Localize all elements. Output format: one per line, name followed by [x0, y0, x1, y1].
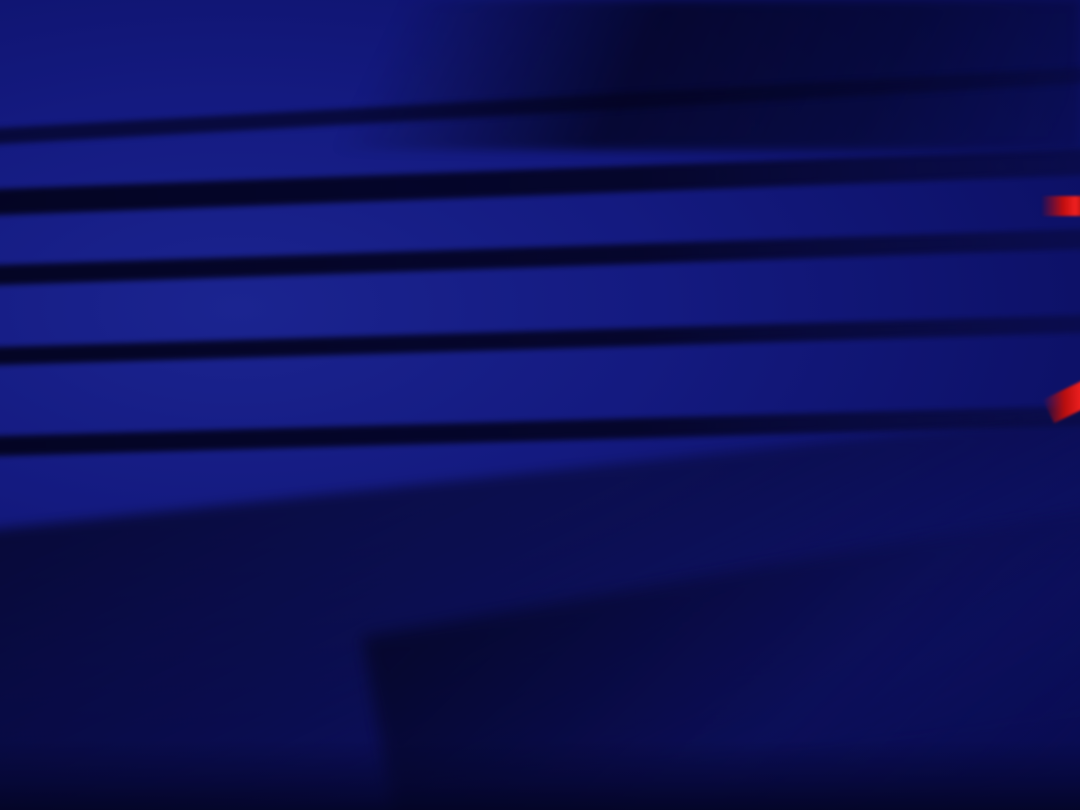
background-bottom-shade	[0, 740, 1080, 810]
slide-canvas: 七、指针（ P/ I ） 分支用指针 中断用指针 跳转用指针 子程序调用指针	[0, 0, 1080, 810]
accent-red-bar	[1040, 556, 1080, 586]
accent-red-bar	[1042, 196, 1080, 216]
